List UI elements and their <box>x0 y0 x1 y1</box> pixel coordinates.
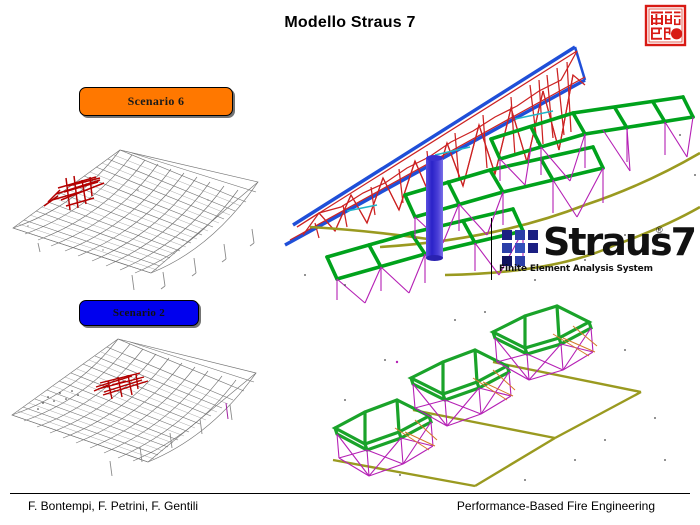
scenario-6-button[interactable]: Scenario 6 <box>79 87 233 116</box>
scenario-6-model-view <box>8 130 268 285</box>
logo-divider <box>491 218 492 280</box>
footer-divider <box>10 493 690 494</box>
footer-topic: Performance-Based Fire Engineering <box>457 499 655 513</box>
scenario-2-label: Scenario 2 <box>113 307 165 319</box>
page-title: Modello Straus 7 <box>0 14 700 32</box>
scenario-2-model-view <box>8 325 268 475</box>
straus7-tagline: Finite Element Analysis System <box>499 264 653 274</box>
footer-authors: F. Bontempi, F. Petrini, F. Gentili <box>28 499 198 513</box>
straus7-wordmark: Straus7 <box>543 219 695 265</box>
straus7-logo-grid-icon <box>502 230 539 267</box>
registered-trademark-symbol: ® <box>656 225 663 235</box>
bottom-frames-model-view <box>325 300 685 495</box>
scenario-2-button[interactable]: Scenario 2 <box>79 300 199 326</box>
slide-canvas: Modello Straus 7 <box>0 0 700 525</box>
scenario-6-label: Scenario 6 <box>128 94 185 109</box>
straus7-logo: Straus7 ® Finite Element Analysis System <box>495 222 675 277</box>
